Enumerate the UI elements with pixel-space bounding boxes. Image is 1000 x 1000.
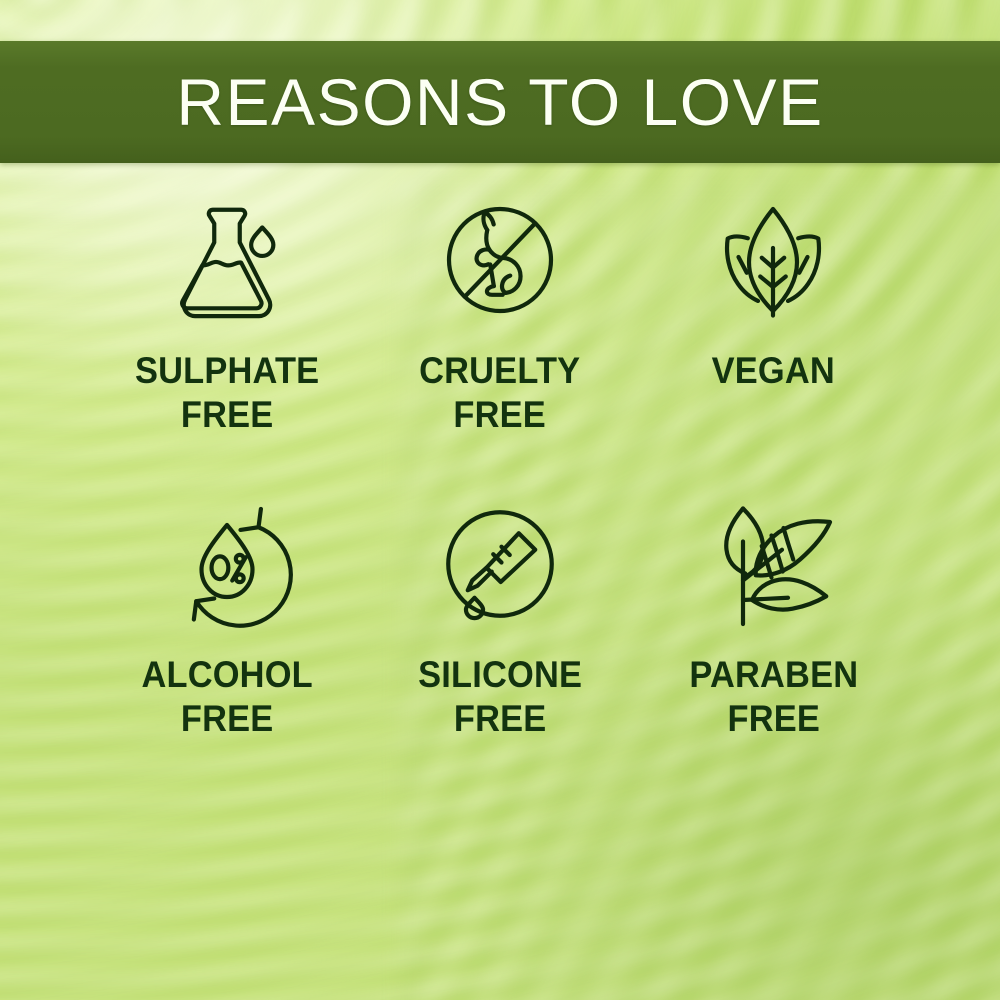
badge-cruelty-free: CRUELTY FREE bbox=[363, 185, 636, 437]
badge-paraben-free: PARABEN FREE bbox=[637, 489, 910, 741]
badge-label-line2: FREE bbox=[141, 697, 312, 741]
badge-label-line2: FREE bbox=[134, 393, 318, 437]
badge-label-line1: VEGAN bbox=[712, 350, 835, 391]
badge-label-line2: FREE bbox=[419, 393, 580, 437]
badge-label-alcohol-free: ALCOHOL FREE bbox=[141, 653, 312, 741]
flask-droplet-icon bbox=[152, 185, 302, 335]
badge-label-silicone-free: SILICONE FREE bbox=[418, 653, 582, 741]
badge-label-cruelty-free: CRUELTY FREE bbox=[419, 349, 580, 437]
badge-label-line1: CRUELTY bbox=[419, 350, 580, 391]
badge-label-line2: FREE bbox=[689, 697, 858, 741]
badge-label-sulphate-free: SULPHATE FREE bbox=[134, 349, 318, 437]
badge-label-line2: FREE bbox=[418, 697, 582, 741]
badge-label-paraben-free: PARABEN FREE bbox=[689, 653, 858, 741]
header-banner: REASONS TO LOVE bbox=[0, 41, 1000, 163]
badge-silicone-free: SILICONE FREE bbox=[363, 489, 636, 741]
benefits-grid: SULPHATE FREE CRUELTY FREE bbox=[0, 185, 1000, 741]
badge-sulphate-free: SULPHATE FREE bbox=[90, 185, 363, 437]
badge-label-line1: ALCOHOL bbox=[141, 654, 312, 695]
reasons-to-love-poster: REASONS TO LOVE SULPHATE FREE bbox=[0, 0, 1000, 1000]
badge-label-vegan: VEGAN bbox=[712, 349, 835, 393]
leaf-branch-icon bbox=[698, 489, 848, 639]
three-leaves-vegan-icon bbox=[698, 185, 848, 335]
badge-alcohol-free: ALCOHOL FREE bbox=[90, 489, 363, 741]
badge-vegan: VEGAN bbox=[637, 185, 910, 437]
page-title: REASONS TO LOVE bbox=[176, 69, 823, 135]
dropper-pipette-icon bbox=[425, 489, 575, 639]
badge-label-line1: PARABEN bbox=[689, 654, 858, 695]
badge-label-line1: SILICONE bbox=[418, 654, 582, 695]
water-drop-zero-percent-icon bbox=[152, 489, 302, 639]
no-rabbit-cruelty-free-icon bbox=[425, 185, 575, 335]
badge-label-line1: SULPHATE bbox=[134, 350, 318, 391]
